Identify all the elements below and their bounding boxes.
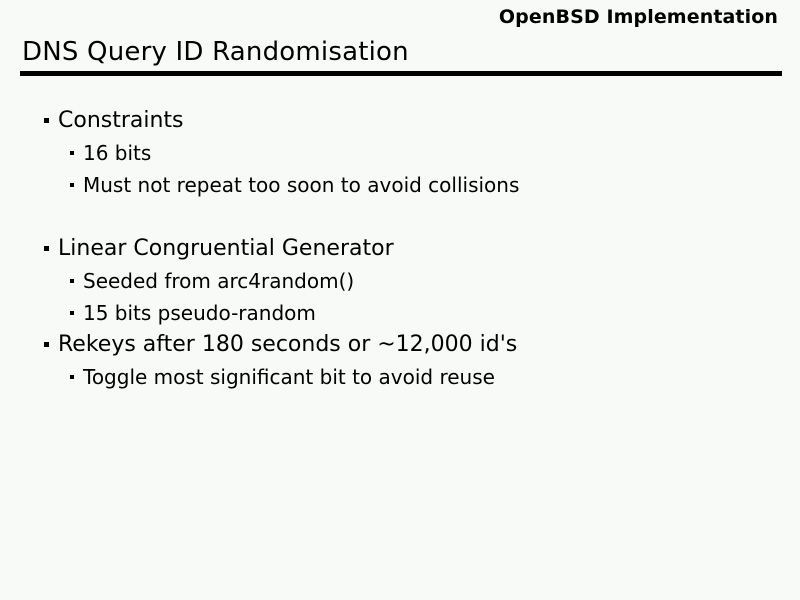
bullet-item-label: Seeded from arc4random() [83, 265, 354, 297]
square-bullet-icon [70, 151, 74, 155]
square-bullet-icon [70, 375, 74, 379]
bullet-item-label: 16 bits [83, 137, 151, 169]
bullet-item-level-2: Toggle most significant bit to avoid reu… [0, 361, 800, 393]
bullet-item-label: Must not repeat too soon to avoid collis… [83, 169, 519, 201]
bullet-item-label: Rekeys after 180 seconds or ~12,000 id's [58, 329, 517, 361]
bullet-item-level-1: Rekeys after 180 seconds or ~12,000 id's [0, 329, 800, 361]
square-bullet-icon [44, 342, 49, 347]
bullet-item-label: Linear Congruential Generator [58, 233, 394, 265]
bullet-item-label: 15 bits pseudo-random [83, 297, 316, 329]
bullet-item-level-2: 16 bits [0, 137, 800, 169]
bullet-item-label: Constraints [58, 105, 184, 137]
bullet-spacer [0, 201, 800, 233]
bullet-item-label: Toggle most significant bit to avoid reu… [83, 361, 495, 393]
slide-header-text: OpenBSD Implementation [22, 6, 778, 30]
square-bullet-icon [44, 118, 49, 123]
square-bullet-icon [70, 279, 74, 283]
bullet-item-level-2: 15 bits pseudo-random [0, 297, 800, 329]
presentation-slide: OpenBSD Implementation DNS Query ID Rand… [0, 0, 800, 600]
bullet-list: Constraints16 bitsMust not repeat too so… [0, 105, 800, 600]
square-bullet-icon [70, 311, 74, 315]
title-divider-rule [20, 71, 782, 76]
bullet-item-level-2: Seeded from arc4random() [0, 265, 800, 297]
bullet-item-level-1: Constraints [0, 105, 800, 137]
square-bullet-icon [70, 183, 74, 187]
square-bullet-icon [44, 246, 49, 251]
bullet-item-level-2: Must not repeat too soon to avoid collis… [0, 169, 800, 201]
slide-title: DNS Query ID Randomisation [22, 38, 409, 68]
bullet-item-level-1: Linear Congruential Generator [0, 233, 800, 265]
